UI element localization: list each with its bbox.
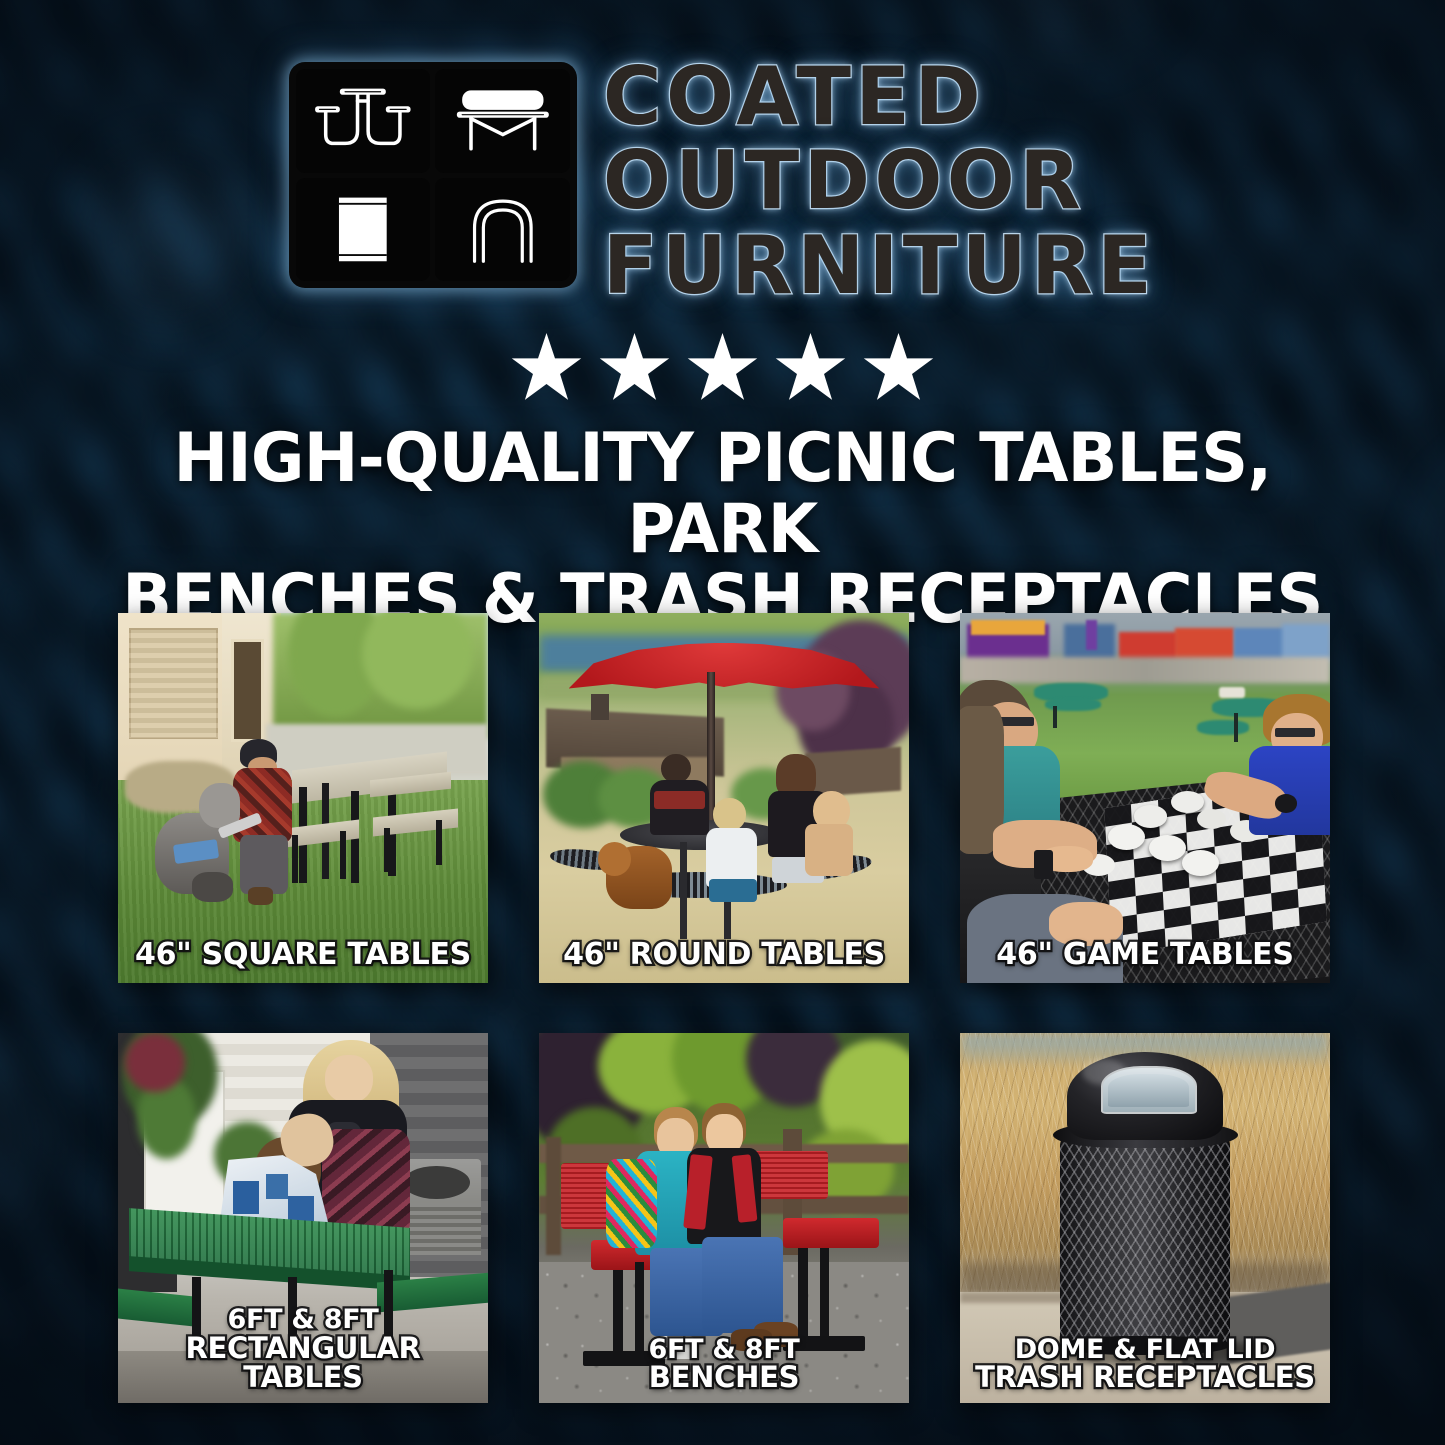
brand-lockup: COATED OUTDOOR FURNITURE [0,62,1445,305]
caption-line-2: RECTANGULAR TABLES [126,1334,480,1393]
brand-line-1: COATED [603,58,1156,136]
brand-name: COATED OUTDOOR FURNITURE [603,58,1156,305]
park-bench-icon [445,78,561,163]
star-icon [599,333,671,405]
product-photo-game-tables [960,613,1330,983]
caption-line-2: TRASH RECEPTACLES [968,1363,1322,1393]
star-icon [863,333,935,405]
caption-line-1: 6FT & 8FT [126,1306,480,1334]
marketing-poster: COATED OUTDOOR FURNITURE HIGH-QUALITY PI… [0,0,1445,1445]
product-grid: 46" SQUARE TABLES [118,613,1330,1403]
product-photo-square-tables [118,613,488,983]
caption-line-1: 46" GAME TABLES [968,940,1322,971]
product-caption: DOME & FLAT LID TRASH RECEPTACLES [960,1336,1330,1393]
logo-quadrant-trash-receptacle [296,178,431,282]
headline-line-1: HIGH-QUALITY PICNIC TABLES, PARK [88,424,1356,565]
product-caption: 46" SQUARE TABLES [118,940,488,971]
product-card-trash-receptacles[interactable]: DOME & FLAT LID TRASH RECEPTACLES [960,1033,1330,1403]
company-logo-mark [289,62,577,288]
star-rating [0,333,1445,405]
product-caption: 46" ROUND TABLES [539,940,909,971]
brand-line-2: OUTDOOR [603,142,1156,220]
product-card-rectangular-tables[interactable]: 6FT & 8FT RECTANGULAR TABLES [118,1033,488,1403]
bike-rack-arch-icon [445,187,561,272]
logo-quadrant-bench [435,69,570,173]
logo-quadrant-picnic-table [296,69,431,173]
product-caption: 6FT & 8FT RECTANGULAR TABLES [118,1306,488,1393]
star-icon [511,333,583,405]
caption-line-2: BENCHES [547,1363,901,1393]
product-card-benches[interactable]: 6FT & 8FT BENCHES [539,1033,909,1403]
trash-receptacle-icon [305,187,421,272]
brand-line-3: FURNITURE [603,227,1156,305]
product-card-square-tables[interactable]: 46" SQUARE TABLES [118,613,488,983]
caption-line-1: 46" SQUARE TABLES [126,940,480,971]
star-icon [775,333,847,405]
logo-quadrant-bike-rack-arch [435,178,570,282]
product-photo-round-tables [539,613,909,983]
product-card-round-tables[interactable]: 46" ROUND TABLES [539,613,909,983]
product-caption: 46" GAME TABLES [960,940,1330,971]
caption-line-1: 46" ROUND TABLES [547,940,901,971]
picnic-table-frame-icon [305,78,421,163]
product-card-game-tables[interactable]: 46" GAME TABLES [960,613,1330,983]
headline: HIGH-QUALITY PICNIC TABLES, PARK BENCHES… [29,424,1416,636]
product-caption: 6FT & 8FT BENCHES [539,1336,909,1393]
star-icon [687,333,759,405]
